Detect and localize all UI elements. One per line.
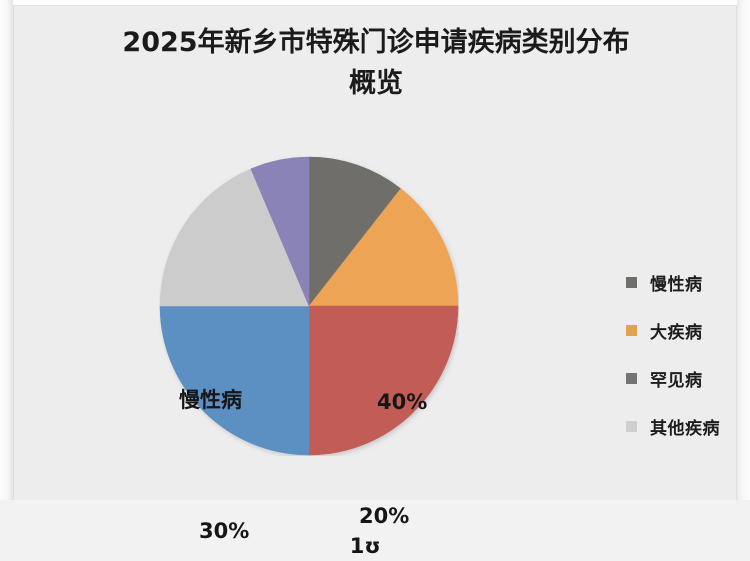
legend-label: 其他疾病 bbox=[650, 414, 720, 439]
legend-label: 大疾病 bbox=[650, 318, 703, 343]
page-gutter-left bbox=[0, 0, 13, 500]
legend-label: 慢性病 bbox=[650, 270, 703, 295]
legend-swatch-icon bbox=[626, 421, 637, 432]
legend-label: 罕见病 bbox=[650, 366, 703, 391]
pie-chart: 40% 20% 1ʊ 30% 慢性病 bbox=[159, 156, 459, 456]
chart-legend: 慢性病大疾病罕见病其他疾病 bbox=[626, 258, 741, 450]
slice-label-20: 20% 1ʊ bbox=[359, 501, 409, 561]
pie-slice-2[interactable] bbox=[309, 306, 458, 455]
chart-card: 2025年新乡市特殊门诊申请疾病类别分布 概览 40% 20% 1ʊ 30% 慢… bbox=[13, 5, 737, 500]
legend-swatch-icon bbox=[626, 277, 637, 288]
screenshot-root: 2025年新乡市特殊门诊申请疾病类别分布 概览 40% 20% 1ʊ 30% 慢… bbox=[0, 0, 750, 500]
pie-slice-group bbox=[160, 157, 458, 455]
legend-item-2[interactable]: 罕见病 bbox=[626, 354, 741, 402]
pie-chart-svg bbox=[159, 156, 459, 456]
slice-label-30: 30% bbox=[199, 519, 249, 543]
legend-swatch-icon bbox=[626, 373, 637, 384]
chart-title-line-2: 概览 bbox=[54, 63, 698, 104]
page-title: 2025年新乡市特殊门诊申请疾病类别分布 概览 bbox=[54, 22, 698, 104]
chart-title-line-1: 2025年新乡市特殊门诊申请疾病类别分布 bbox=[122, 27, 629, 58]
pie-slice-3[interactable] bbox=[160, 306, 309, 455]
legend-swatch-icon bbox=[626, 325, 637, 336]
legend-item-0[interactable]: 慢性病 bbox=[626, 258, 741, 306]
slice-label-20-sub: 1ʊ bbox=[321, 531, 409, 561]
legend-item-1[interactable]: 大疾病 bbox=[626, 306, 741, 354]
legend-item-3[interactable]: 其他疾病 bbox=[626, 402, 741, 450]
slice-label-20-pct: 20% bbox=[359, 504, 409, 528]
